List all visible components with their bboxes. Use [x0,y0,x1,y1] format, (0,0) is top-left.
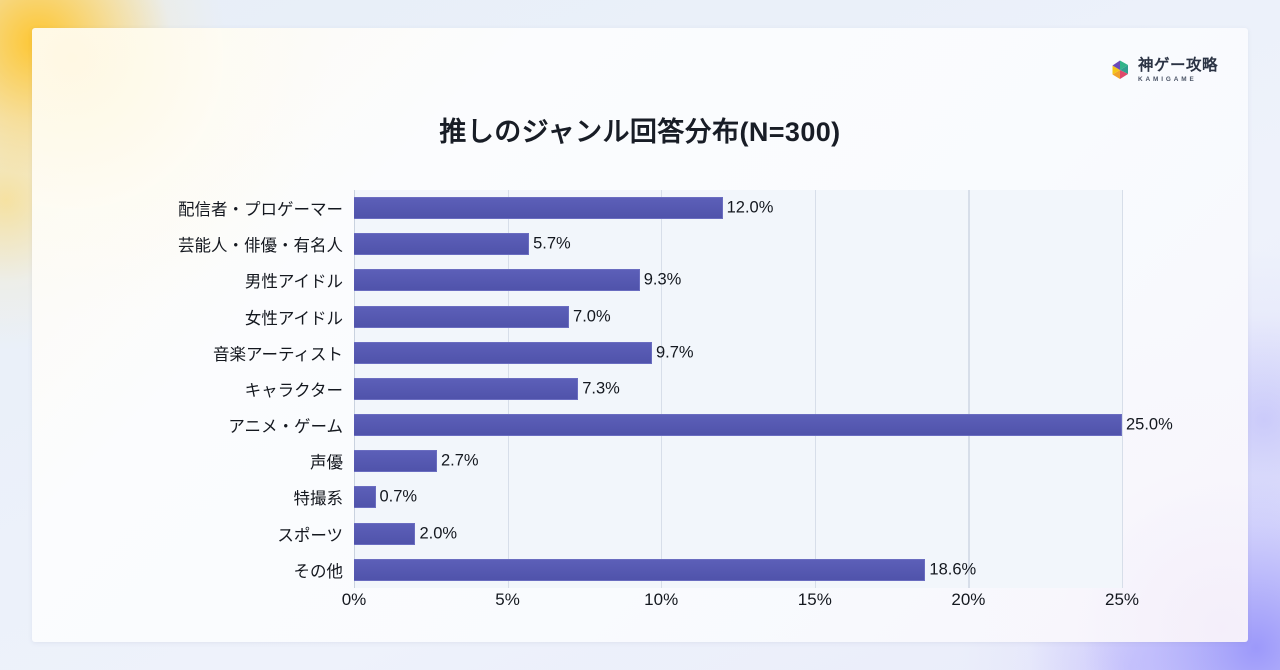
bar: 25.0% [354,414,1122,436]
x-tick-label: 15% [798,590,832,610]
bar-value-label: 2.7% [441,452,479,471]
x-tick-label: 25% [1105,590,1139,610]
bar-value-label: 7.3% [582,379,620,398]
bar-row: 配信者・プロゲーマー12.0% [354,190,1122,226]
bar-value-label: 12.0% [727,199,774,218]
x-tick-label: 0% [342,590,367,610]
category-label: 配信者・プロゲーマー [178,196,343,220]
x-axis-tick-labels: 0%5%10%15%20%25% [354,590,1122,618]
brand-wordmark: 神ゲー攻略 [1138,58,1218,74]
category-label: 声優 [310,449,343,473]
category-label: 音楽アーティスト [213,341,343,365]
bar: 7.3% [354,378,578,400]
category-label: キャラクター [245,377,343,401]
bar: 12.0% [354,197,723,219]
bar-value-label: 18.6% [929,560,976,579]
bar-row: 女性アイドル7.0% [354,299,1122,335]
chart-card: 神ゲー攻略 KAMIGAME 推しのジャンル回答分布(N=300) 配信者・プロ… [32,28,1248,642]
bar-row: 声優2.7% [354,443,1122,479]
chart-plot-area: 配信者・プロゲーマー12.0%芸能人・俳優・有名人5.7%男性アイドル9.3%女… [354,190,1122,588]
bar: 0.7% [354,486,376,508]
bar-row: キャラクター7.3% [354,371,1122,407]
category-label: 男性アイドル [245,268,343,292]
kamigame-hexagon-logo-icon [1109,59,1131,81]
bar-value-label: 9.7% [656,343,694,362]
category-label: 女性アイドル [245,305,343,329]
bar-value-label: 0.7% [380,488,418,507]
category-label: 特撮系 [294,485,344,509]
bar-value-label: 25.0% [1126,416,1173,435]
bar: 18.6% [354,559,925,581]
bar-value-label: 9.3% [644,271,682,290]
bar: 5.7% [354,233,529,255]
x-tick-label: 10% [644,590,678,610]
chart-title: 推しのジャンル回答分布(N=300) [32,110,1248,149]
bar-row: スポーツ2.0% [354,516,1122,552]
gridline [1122,190,1123,588]
bar-row: 特撮系0.7% [354,479,1122,515]
bar: 7.0% [354,306,569,328]
x-tick-label: 5% [495,590,520,610]
bar-value-label: 7.0% [573,307,611,326]
bar: 2.0% [354,523,415,545]
bar-row: 男性アイドル9.3% [354,262,1122,298]
bar-value-label: 2.0% [419,524,457,543]
bar-row: その他18.6% [354,552,1122,588]
bar-row: 音楽アーティスト9.7% [354,335,1122,371]
bar: 2.7% [354,450,437,472]
brand-logo: 神ゲー攻略 KAMIGAME [1109,58,1218,83]
x-tick-label: 20% [951,590,985,610]
bar-value-label: 5.7% [533,235,571,254]
bar-row: 芸能人・俳優・有名人5.7% [354,226,1122,262]
category-label: その他 [294,558,344,582]
bar-row: アニメ・ゲーム25.0% [354,407,1122,443]
brand-logo-text: 神ゲー攻略 KAMIGAME [1138,58,1218,83]
category-label: 芸能人・俳優・有名人 [178,232,343,256]
bar: 9.7% [354,342,652,364]
category-label: アニメ・ゲーム [228,413,343,437]
bar-rows: 配信者・プロゲーマー12.0%芸能人・俳優・有名人5.7%男性アイドル9.3%女… [354,190,1122,588]
category-label: スポーツ [277,522,343,546]
brand-subtitle: KAMIGAME [1138,77,1218,83]
bar: 9.3% [354,269,640,291]
